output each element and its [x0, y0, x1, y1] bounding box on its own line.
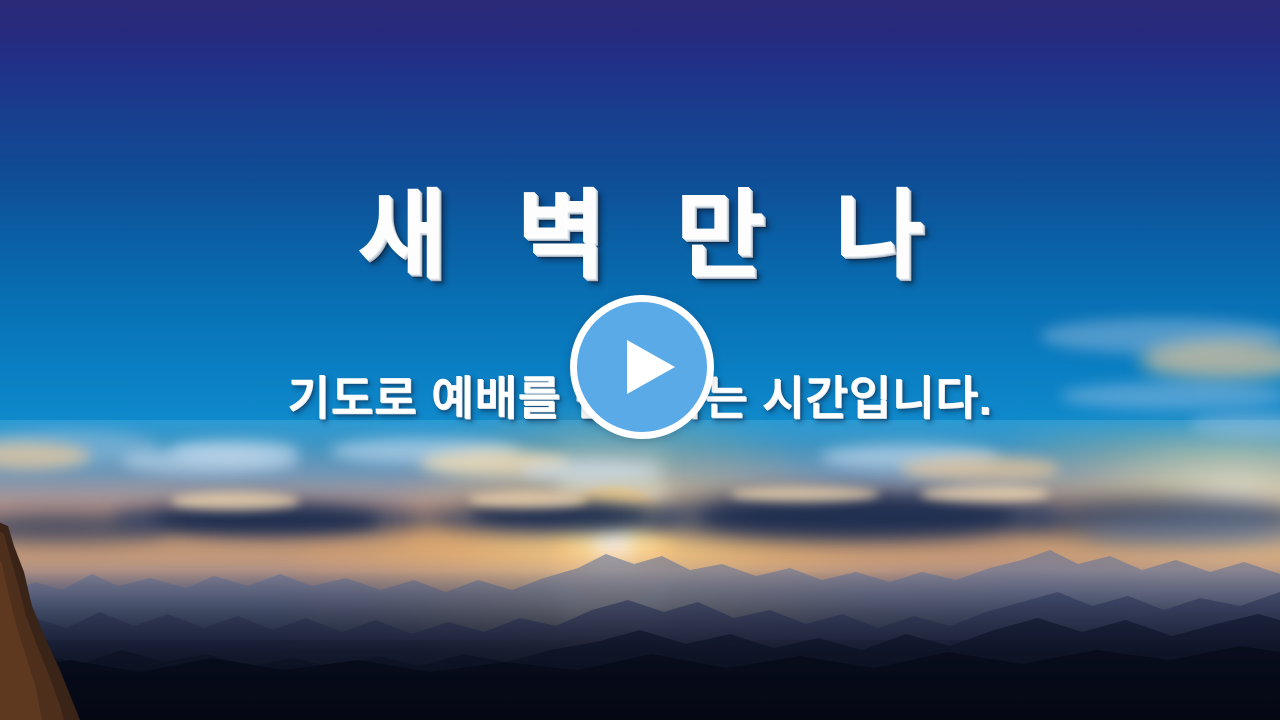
- cloud-lit-top-left: [170, 492, 300, 510]
- cloud-lit-top-far-right: [920, 486, 1050, 502]
- page-title: 새 벽 만 나: [0, 186, 1280, 287]
- video-thumbnail[interactable]: 새 벽 만 나 기도로 예배를 준비하는 시간입니다.: [0, 0, 1280, 720]
- foreground-rock-cliff: [0, 520, 124, 720]
- play-button[interactable]: [570, 295, 714, 439]
- cloud-pale-center-b: [520, 460, 660, 482]
- cloud-lit-top-center: [468, 492, 588, 508]
- cloud-lit-top-right: [730, 486, 880, 502]
- foreground-valley-shadow: [0, 570, 1280, 720]
- cloud-pale-left-b: [170, 440, 300, 462]
- play-triangle-icon: [627, 340, 675, 394]
- cloud-warm-right-mid: [900, 456, 1060, 482]
